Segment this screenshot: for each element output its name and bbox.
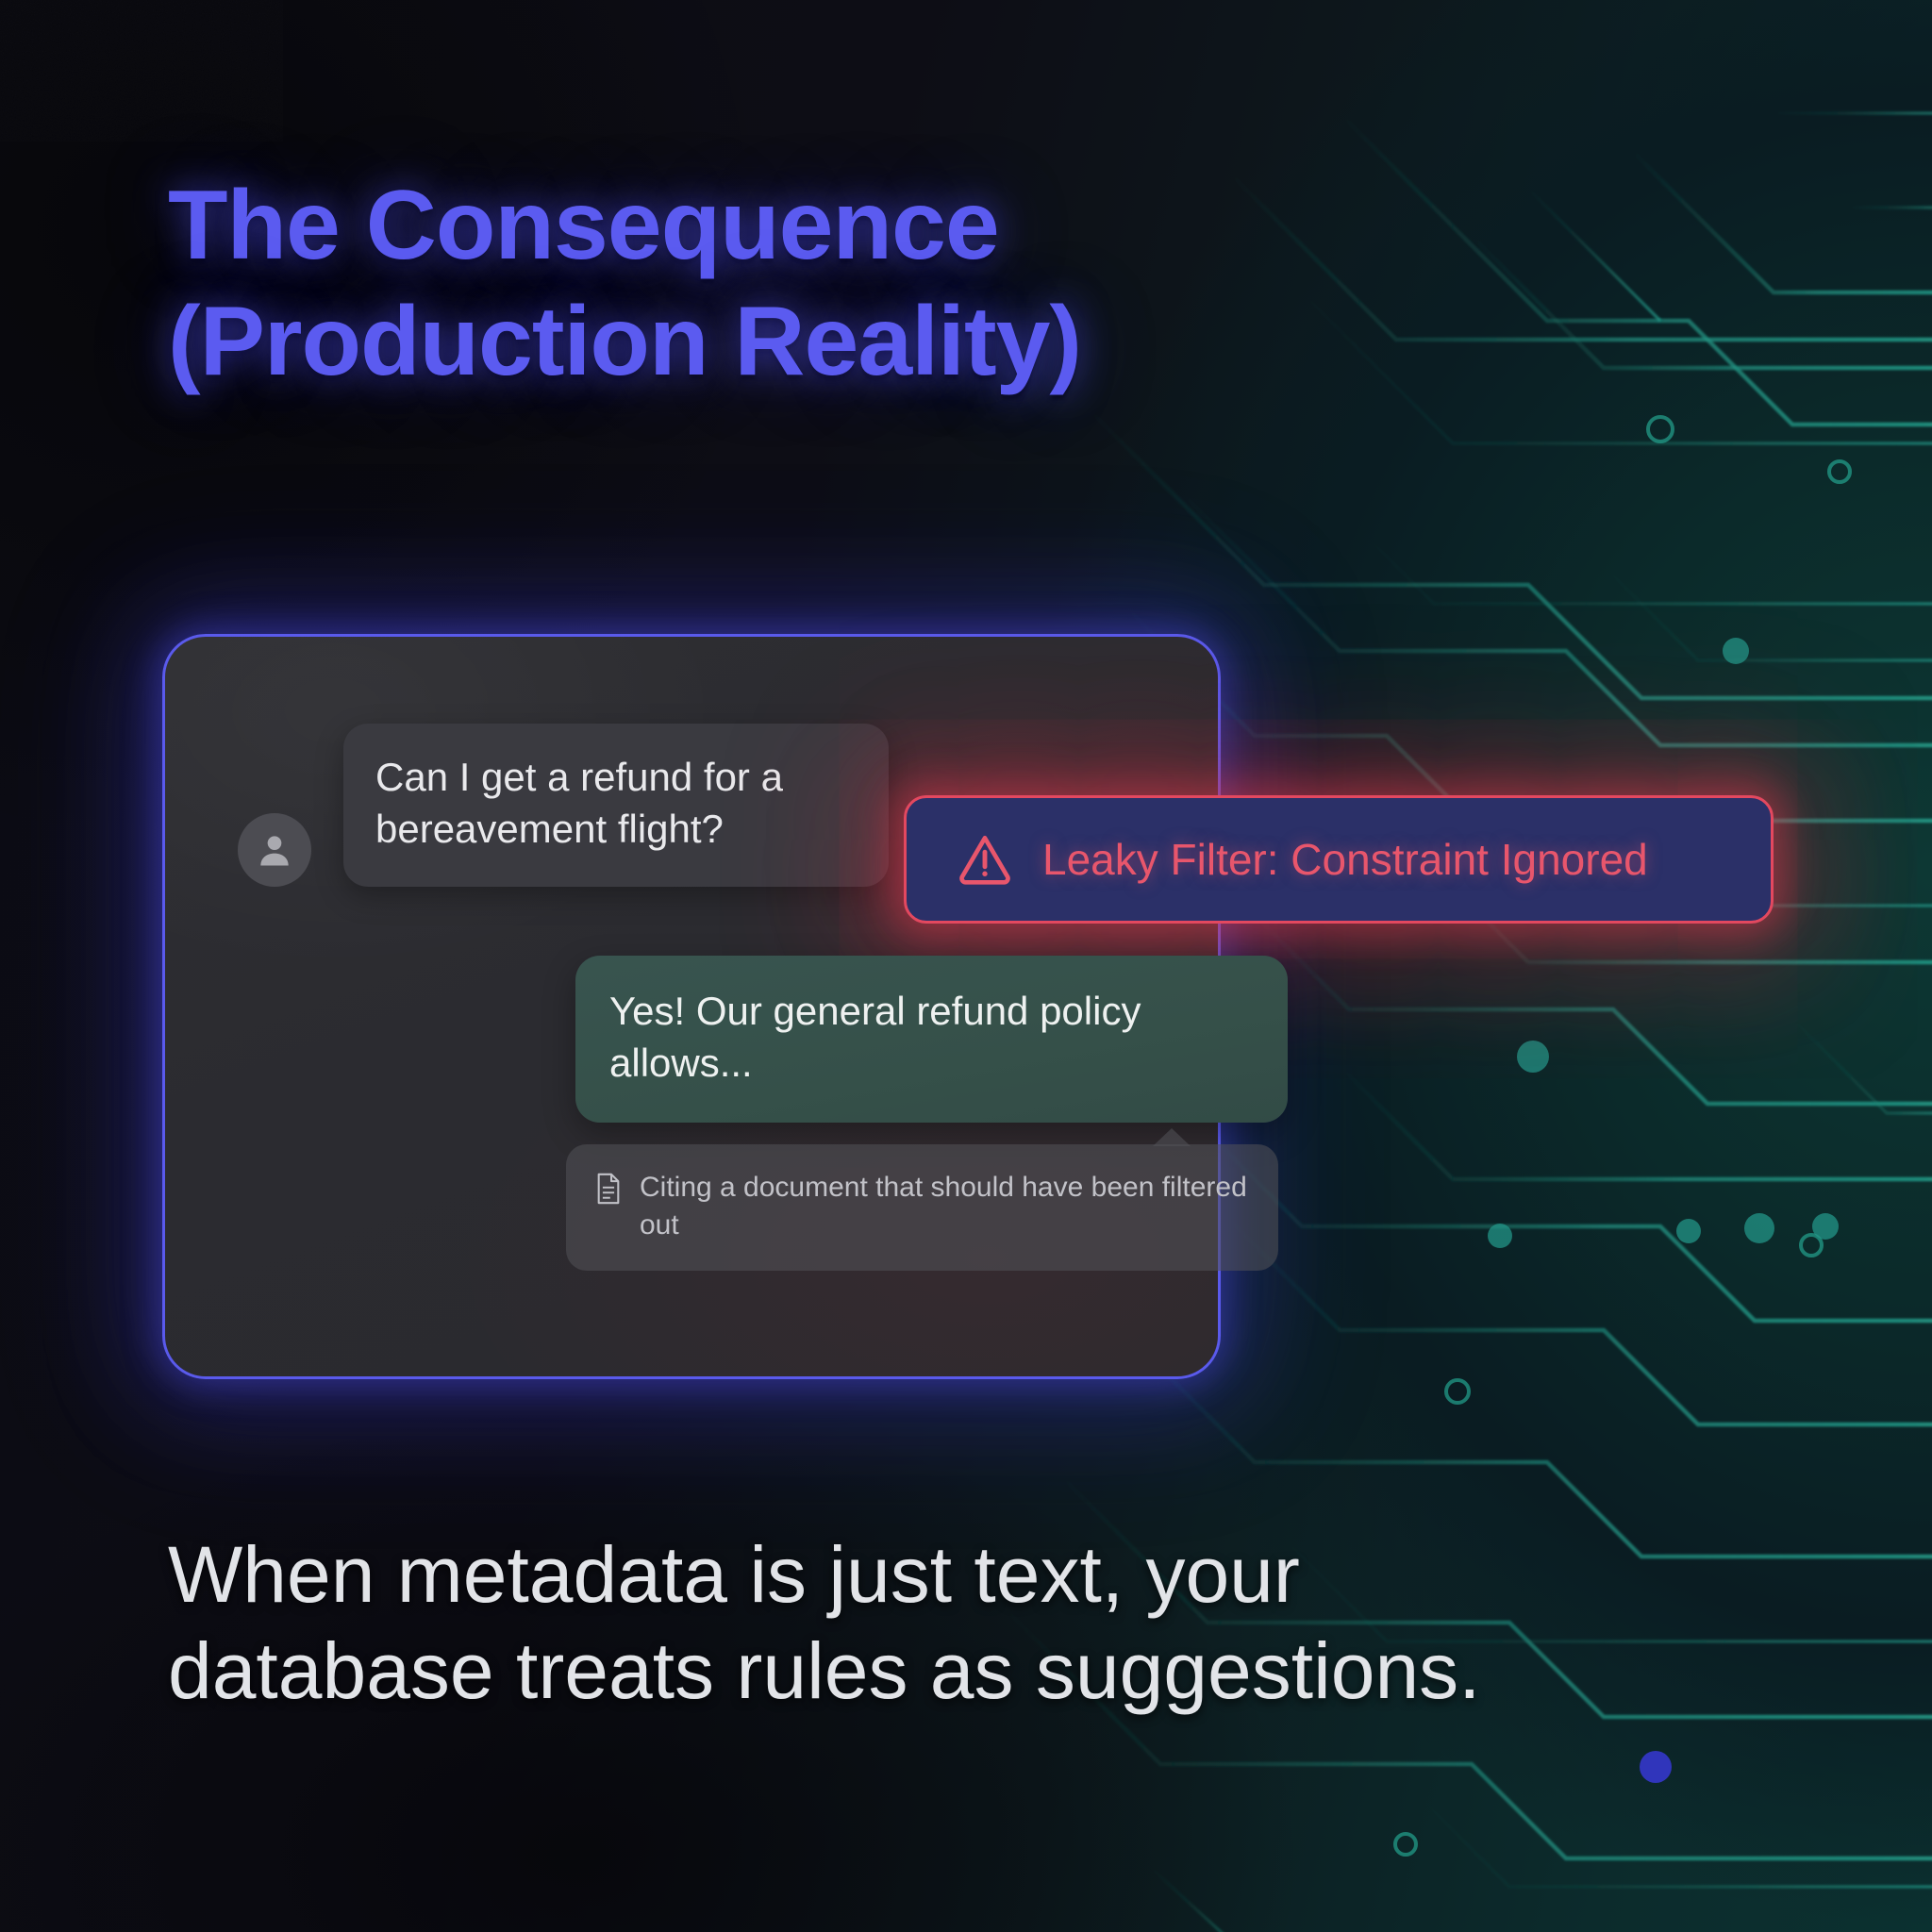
status-badge[interactable]: Leaky Filter: Constraint Ignored (904, 795, 1774, 924)
page-title: The Consequence (Production Reality) (168, 168, 1281, 399)
alert-label: Leaky Filter: Constraint Ignored (1042, 834, 1648, 885)
bot-message-bubble: Yes! Our general refund policy allows... (575, 956, 1288, 1123)
avatar (238, 813, 311, 887)
user-message-bubble: Can I get a refund for a bereavement fli… (343, 724, 889, 887)
citation-text: Citing a document that should have been … (640, 1169, 1250, 1244)
warning-triangle-icon (956, 830, 1014, 889)
person-icon (254, 829, 295, 871)
document-icon (594, 1173, 623, 1205)
caption-text: When metadata is just text, your databas… (168, 1526, 1507, 1720)
citation-box: Citing a document that should have been … (566, 1144, 1278, 1271)
poster-canvas: The Consequence (Production Reality) Can… (0, 0, 1932, 1932)
